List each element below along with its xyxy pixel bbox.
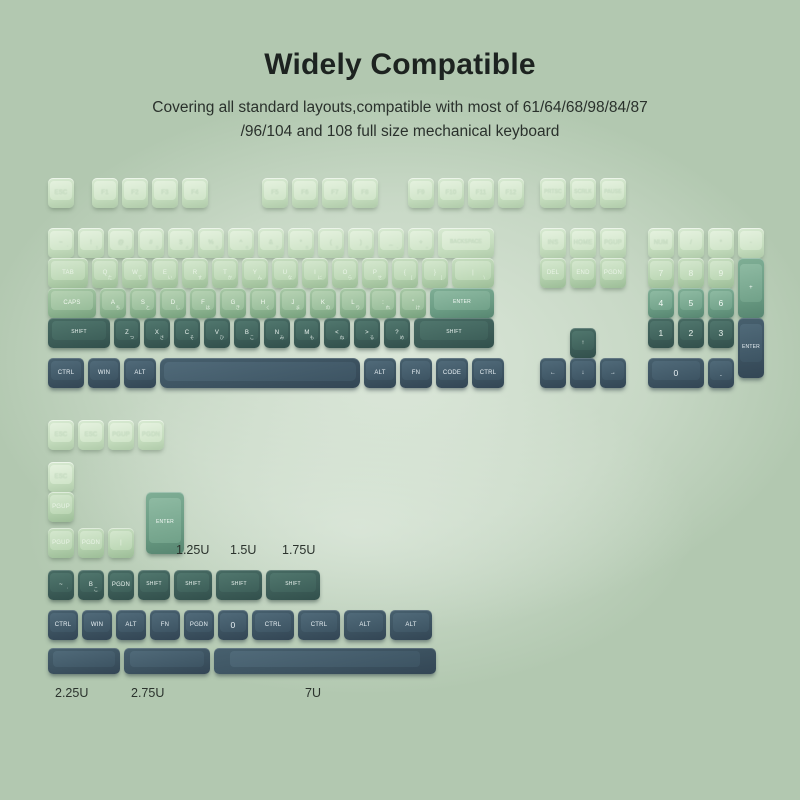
keycap-caps[interactable]: CAPS bbox=[48, 288, 96, 318]
keycap-pgup[interactable]: PGUP bbox=[48, 492, 74, 522]
keycap-top-surface bbox=[650, 261, 672, 280]
keycap-blank[interactable] bbox=[48, 648, 120, 674]
keycap-top-surface bbox=[206, 321, 228, 340]
keycap-top-surface bbox=[252, 291, 274, 310]
keycap-f8[interactable]: F8 bbox=[352, 178, 378, 208]
keycap-sym[interactable]: <ね bbox=[324, 318, 350, 348]
keycap-m[interactable]: Mも bbox=[294, 318, 320, 348]
keycap-f5[interactable]: F5 bbox=[262, 178, 288, 208]
keycap-top-surface bbox=[356, 321, 378, 340]
keycap-tab[interactable]: TAB bbox=[48, 258, 88, 288]
keycap-n[interactable]: Nみ bbox=[264, 318, 290, 348]
keycap-8[interactable]: 8 bbox=[678, 258, 704, 288]
keycap-top-surface bbox=[740, 264, 762, 302]
keycap-shift[interactable]: SHIFT bbox=[174, 570, 212, 600]
keycap-top-surface bbox=[304, 261, 326, 280]
keycap-ctrl[interactable]: CTRL bbox=[48, 610, 78, 640]
subtitle-line-2: /96/104 and 108 full size mechanical key… bbox=[0, 120, 800, 144]
keycap-top-surface bbox=[110, 423, 132, 442]
keycap-top-surface bbox=[186, 613, 212, 632]
keycap-top-surface bbox=[372, 291, 394, 310]
keycap-pgup[interactable]: PGUP bbox=[600, 228, 626, 258]
keycap-top-surface bbox=[50, 613, 76, 632]
keycap-top-surface bbox=[102, 291, 124, 310]
keycap-alt[interactable]: ALT bbox=[116, 610, 146, 640]
keycap-top-surface bbox=[394, 261, 416, 280]
keycap-num[interactable]: NUM bbox=[648, 228, 674, 258]
keycap-top-surface bbox=[140, 423, 162, 442]
keycap-top-surface bbox=[176, 321, 198, 340]
keycap-top-surface bbox=[50, 495, 72, 514]
keycap-pgdn[interactable]: PGDN bbox=[600, 258, 626, 288]
keycap-top-surface bbox=[424, 261, 446, 280]
keycap-top-surface bbox=[366, 361, 394, 380]
keycap-del[interactable]: DEL bbox=[540, 258, 566, 288]
keycap-top-surface bbox=[740, 324, 762, 362]
keycap-top-surface bbox=[184, 261, 206, 280]
keycap-top-surface bbox=[347, 613, 383, 632]
keycap-sym[interactable]: |\ bbox=[452, 258, 494, 288]
keycap-top-surface bbox=[132, 291, 154, 310]
keycap-top-surface bbox=[410, 231, 432, 250]
keycap-i[interactable]: Iに bbox=[302, 258, 328, 288]
keycap-top-surface bbox=[170, 231, 192, 250]
keycap-sym[interactable]: "け bbox=[400, 288, 426, 318]
keycap-top-surface bbox=[393, 613, 429, 632]
keycap-top-surface bbox=[326, 321, 348, 340]
keycap-sym[interactable]: #3 bbox=[138, 228, 164, 258]
keycap-4[interactable]: 4 bbox=[648, 288, 674, 318]
keycap-top-surface bbox=[230, 231, 252, 250]
keycap-0[interactable]: 0 bbox=[218, 610, 248, 640]
keycap-top-surface bbox=[110, 531, 132, 550]
keycap-end[interactable]: END bbox=[570, 258, 596, 288]
keycap-b[interactable]: Bこ bbox=[234, 318, 260, 348]
keycap-top-surface bbox=[270, 573, 316, 592]
keycap-f7[interactable]: F7 bbox=[322, 178, 348, 208]
keycap-win[interactable]: WIN bbox=[82, 610, 112, 640]
keycap-top-surface bbox=[274, 261, 296, 280]
keycap-1[interactable]: 1 bbox=[648, 318, 674, 348]
keycap-top-surface bbox=[680, 321, 702, 340]
keycap-sym[interactable]: ?め bbox=[384, 318, 410, 348]
keycap-top-surface bbox=[294, 181, 316, 200]
subtitle-line-1: Covering all standard layouts,compatible… bbox=[0, 96, 800, 120]
product-stage: Widely Compatible Covering all standard … bbox=[0, 0, 800, 800]
keycap-2[interactable]: 2 bbox=[678, 318, 704, 348]
keycap-sym[interactable]: - bbox=[738, 228, 764, 258]
keycap-top-surface bbox=[184, 181, 206, 200]
keycap-esc[interactable]: ESC bbox=[78, 420, 104, 450]
keycap-x[interactable]: Xさ bbox=[144, 318, 170, 348]
keycap-l[interactable]: Lり bbox=[340, 288, 366, 318]
keycap-top-surface bbox=[50, 423, 72, 442]
keycap-sym[interactable]: %5 bbox=[198, 228, 224, 258]
keycap-top-surface bbox=[236, 321, 258, 340]
keycap-top-surface bbox=[124, 261, 146, 280]
keycap-top-surface bbox=[434, 291, 489, 310]
keycap-sym[interactable]: >る bbox=[354, 318, 380, 348]
keycap-q[interactable]: Qた bbox=[92, 258, 118, 288]
keycap-top-surface bbox=[219, 573, 259, 592]
keycap-esc[interactable]: ESC bbox=[48, 462, 74, 492]
keycap-sym[interactable]: :れ bbox=[370, 288, 396, 318]
keycap-top-surface bbox=[710, 361, 732, 380]
keycap-top-surface bbox=[140, 231, 162, 250]
keycap-top-surface bbox=[402, 361, 430, 380]
keycap-t[interactable]: Tか bbox=[212, 258, 238, 288]
keycap-top-surface bbox=[222, 291, 244, 310]
keycap-top-surface bbox=[50, 531, 72, 550]
keycap-v[interactable]: Vひ bbox=[204, 318, 230, 348]
keycap-top-surface bbox=[710, 231, 732, 250]
size-label-1.25u: 1.25U bbox=[176, 543, 209, 557]
keycap-top-surface bbox=[110, 573, 132, 592]
keycap-top-surface bbox=[572, 231, 594, 250]
keycap-d[interactable]: Dし bbox=[160, 288, 186, 318]
keycap-alt[interactable]: ALT bbox=[390, 610, 432, 640]
keycap-sym[interactable]: _- bbox=[378, 228, 404, 258]
keycap-f2[interactable]: F2 bbox=[122, 178, 148, 208]
keycap-sym[interactable]: ~` bbox=[48, 228, 74, 258]
keycap-top-surface bbox=[94, 261, 116, 280]
keycap-top-surface bbox=[84, 613, 110, 632]
keycap-top-surface bbox=[602, 261, 624, 280]
keycap-top-surface bbox=[740, 231, 762, 250]
size-label-7u: 7U bbox=[305, 686, 321, 700]
keycap-shift[interactable]: SHIFT bbox=[266, 570, 320, 600]
keycap-top-surface bbox=[364, 261, 386, 280]
keycap-top-surface bbox=[542, 261, 564, 280]
keycap-top-surface bbox=[602, 181, 624, 200]
keycap-top-surface bbox=[500, 181, 522, 200]
keycap-top-surface bbox=[94, 181, 116, 200]
keycap-top-surface bbox=[164, 362, 356, 381]
keycap-top-surface bbox=[296, 321, 318, 340]
keycap-top-surface bbox=[440, 181, 462, 200]
keycap-top-surface bbox=[420, 321, 489, 340]
keycap-sym[interactable]: += bbox=[408, 228, 434, 258]
keycap-esc[interactable]: ESC bbox=[48, 178, 74, 208]
keycap-backspace[interactable]: BACKSPACE bbox=[438, 228, 494, 258]
keycap-top-surface bbox=[652, 361, 700, 380]
keycap-sym[interactable]: *8 bbox=[288, 228, 314, 258]
keycap-alt[interactable]: ALT bbox=[124, 358, 156, 388]
keycap-enter[interactable]: ENTER bbox=[430, 288, 494, 318]
keycap-top-surface bbox=[192, 291, 214, 310]
keycap-top-surface bbox=[214, 261, 236, 280]
keycap-top-surface bbox=[572, 261, 594, 280]
keycap-sym[interactable]: (9 bbox=[318, 228, 344, 258]
keycap-top-surface bbox=[177, 573, 210, 592]
keycap-y[interactable]: Yん bbox=[242, 258, 268, 288]
keycap-top-surface bbox=[146, 321, 168, 340]
keycap-pgdn[interactable]: PGDN bbox=[184, 610, 214, 640]
keycap-enter[interactable]: ENTER bbox=[738, 318, 764, 378]
keycap-5[interactable]: 5 bbox=[678, 288, 704, 318]
keycap-top-surface bbox=[342, 291, 364, 310]
keycap-sym[interactable]: !1 bbox=[78, 228, 104, 258]
keycap-blank[interactable] bbox=[124, 648, 210, 674]
keycap-top-surface bbox=[50, 231, 72, 250]
keycap-ctrl[interactable]: CTRL bbox=[252, 610, 294, 640]
keycap-top-surface bbox=[51, 261, 85, 280]
keycap-top-surface bbox=[255, 613, 291, 632]
keycap-sym[interactable]: . bbox=[708, 358, 734, 388]
keycap-top-surface bbox=[130, 651, 204, 668]
keycap-top-surface bbox=[455, 261, 491, 280]
keycap-sym[interactable]: ~` bbox=[48, 570, 74, 600]
keycap-sym[interactable]: ← bbox=[540, 358, 566, 388]
keycap-alt[interactable]: ALT bbox=[364, 358, 396, 388]
keycap-top-surface bbox=[650, 321, 672, 340]
keycap-pgdn[interactable]: PGDN bbox=[78, 528, 104, 558]
keycap-ctrl[interactable]: CTRL bbox=[48, 358, 84, 388]
heading-block: Widely Compatible Covering all standard … bbox=[0, 48, 800, 144]
keycap-3[interactable]: 3 bbox=[708, 318, 734, 348]
keycap-top-surface bbox=[602, 231, 624, 250]
keycap-top-surface bbox=[154, 181, 176, 200]
page-title: Widely Compatible bbox=[0, 48, 800, 82]
keycap-top-surface bbox=[442, 231, 490, 250]
keycap-top-surface bbox=[380, 231, 402, 250]
keycap-top-surface bbox=[710, 261, 732, 280]
keycap-sym[interactable]: → bbox=[600, 358, 626, 388]
keycap-top-surface bbox=[116, 321, 138, 340]
keycap-top-surface bbox=[572, 181, 594, 200]
keycap-prtsc[interactable]: PRTSC bbox=[540, 178, 566, 208]
keycap-b[interactable]: Bこ bbox=[78, 570, 104, 600]
keycap-o[interactable]: Oら bbox=[332, 258, 358, 288]
keycap-sym[interactable]: / bbox=[678, 228, 704, 258]
keycap-ctrl[interactable]: CTRL bbox=[472, 358, 504, 388]
keycap-top-surface bbox=[290, 231, 312, 250]
keycap-top-surface bbox=[438, 361, 466, 380]
keycap-blank[interactable] bbox=[160, 358, 360, 388]
keycap-top-surface bbox=[572, 361, 594, 380]
keycap-f4[interactable]: F4 bbox=[182, 178, 208, 208]
keycap-shift[interactable]: SHIFT bbox=[48, 318, 110, 348]
keycap-top-surface bbox=[52, 321, 105, 340]
keycap-blank[interactable] bbox=[214, 648, 436, 674]
keycap-scrlk[interactable]: SCRLK bbox=[570, 178, 596, 208]
keycap-top-surface bbox=[162, 291, 184, 310]
keycap-7[interactable]: 7 bbox=[648, 258, 674, 288]
keycap-pgdn[interactable]: PGDN bbox=[138, 420, 164, 450]
keycap-top-surface bbox=[470, 181, 492, 200]
keycap-k[interactable]: Kの bbox=[310, 288, 336, 318]
keycap-top-surface bbox=[386, 321, 408, 340]
keycap-u[interactable]: Uな bbox=[272, 258, 298, 288]
keycap-top-surface bbox=[680, 291, 702, 310]
keycap-top-surface bbox=[266, 321, 288, 340]
keycap-f9[interactable]: F9 bbox=[408, 178, 434, 208]
keycap-sym[interactable]: * bbox=[708, 228, 734, 258]
keycap-top-surface bbox=[282, 291, 304, 310]
keycap-f1[interactable]: F1 bbox=[92, 178, 118, 208]
keycap-sym[interactable]: @2 bbox=[108, 228, 134, 258]
keycap-sym[interactable]: $4 bbox=[168, 228, 194, 258]
keycap-c[interactable]: Cそ bbox=[174, 318, 200, 348]
keycap-top-surface bbox=[402, 291, 424, 310]
keycap-top-surface bbox=[154, 261, 176, 280]
keycap-top-surface bbox=[51, 361, 82, 380]
keycap-top-surface bbox=[200, 231, 222, 250]
keycap-sym[interactable]: )0 bbox=[348, 228, 374, 258]
keycap-r[interactable]: Rす bbox=[182, 258, 208, 288]
keycap-sym[interactable]: ↓ bbox=[570, 358, 596, 388]
keycap-top-surface bbox=[350, 231, 372, 250]
keycap-h[interactable]: Hく bbox=[250, 288, 276, 318]
keycap-f11[interactable]: F11 bbox=[468, 178, 494, 208]
size-label-1.75u: 1.75U bbox=[282, 543, 315, 557]
keycap-f[interactable]: Fは bbox=[190, 288, 216, 318]
keycap-fn[interactable]: FN bbox=[150, 610, 180, 640]
keycap-pause[interactable]: PAUSE bbox=[600, 178, 626, 208]
keycap-win[interactable]: WIN bbox=[88, 358, 120, 388]
keycap-top-surface bbox=[90, 361, 118, 380]
keycap-g[interactable]: Gき bbox=[220, 288, 246, 318]
keycap-top-surface bbox=[118, 613, 144, 632]
keycap-pgup[interactable]: PGUP bbox=[108, 420, 134, 450]
keycap-top-surface bbox=[474, 361, 502, 380]
keycap-top-surface bbox=[680, 231, 702, 250]
keycap-top-surface bbox=[50, 465, 72, 484]
keycap-sym[interactable]: {[ bbox=[392, 258, 418, 288]
keycap-ins[interactable]: INS bbox=[540, 228, 566, 258]
keycap-top-surface bbox=[710, 321, 732, 340]
keycap-top-surface bbox=[244, 261, 266, 280]
keycap-pgup[interactable]: PGUP bbox=[48, 528, 74, 558]
keycap-alt[interactable]: ALT bbox=[344, 610, 386, 640]
keycap-fn[interactable]: FN bbox=[400, 358, 432, 388]
keycap-top-surface bbox=[410, 181, 432, 200]
page-subtitle: Covering all standard layouts,compatible… bbox=[0, 96, 800, 144]
keycap-top-surface bbox=[334, 261, 356, 280]
keycap-top-surface bbox=[80, 573, 102, 592]
keycap-sym[interactable]: &7 bbox=[258, 228, 284, 258]
keycap-9[interactable]: 9 bbox=[708, 258, 734, 288]
keycap-w[interactable]: Wて bbox=[122, 258, 148, 288]
size-label-2.25u: 2.25U bbox=[55, 686, 88, 700]
keycap-a[interactable]: Aち bbox=[100, 288, 126, 318]
keycap-shift[interactable]: SHIFT bbox=[138, 570, 170, 600]
keycap-e[interactable]: Eい bbox=[152, 258, 178, 288]
keycap-p[interactable]: Pせ bbox=[362, 258, 388, 288]
keycap-shift[interactable]: SHIFT bbox=[216, 570, 262, 600]
keycap-top-surface bbox=[602, 361, 624, 380]
keycap-top-surface bbox=[220, 613, 246, 632]
keycap-top-surface bbox=[110, 231, 132, 250]
keycap-top-surface bbox=[53, 651, 115, 668]
keycap-j[interactable]: Jま bbox=[280, 288, 306, 318]
keycap-top-surface bbox=[320, 231, 342, 250]
keycap-f6[interactable]: F6 bbox=[292, 178, 318, 208]
keycap-ctrl[interactable]: CTRL bbox=[298, 610, 340, 640]
keycap-sym[interactable]: ↑ bbox=[570, 328, 596, 358]
keycap-sym[interactable]: | bbox=[108, 528, 134, 558]
keycap-top-surface bbox=[140, 573, 168, 592]
keycap-6[interactable]: 6 bbox=[708, 288, 734, 318]
size-label-1.5u: 1.5U bbox=[230, 543, 256, 557]
keycap-top-surface bbox=[354, 181, 376, 200]
size-label-2.75u: 2.75U bbox=[131, 686, 164, 700]
keycap-top-surface bbox=[80, 423, 102, 442]
keycap-top-surface bbox=[50, 181, 72, 200]
keycap-top-surface bbox=[542, 231, 564, 250]
keycap-top-surface bbox=[650, 231, 672, 250]
keycap-shift[interactable]: SHIFT bbox=[414, 318, 494, 348]
keycap-top-surface bbox=[260, 231, 282, 250]
keycap-top-surface bbox=[50, 573, 72, 592]
keycap-top-surface bbox=[650, 291, 672, 310]
keycap-sym[interactable]: + bbox=[738, 258, 764, 318]
keycap-top-surface bbox=[230, 651, 421, 668]
keycap-top-surface bbox=[80, 531, 102, 550]
keycap-top-surface bbox=[572, 331, 594, 350]
keycap-top-surface bbox=[542, 361, 564, 380]
keycap-top-surface bbox=[264, 181, 286, 200]
keycap-esc[interactable]: ESC bbox=[48, 420, 74, 450]
keycap-top-surface bbox=[152, 613, 178, 632]
keycap-top-surface bbox=[710, 291, 732, 310]
keycap-code[interactable]: CODE bbox=[436, 358, 468, 388]
keycap-top-surface bbox=[542, 181, 564, 200]
keycap-z[interactable]: Zつ bbox=[114, 318, 140, 348]
keycap-f3[interactable]: F3 bbox=[152, 178, 178, 208]
keycap-top-surface bbox=[149, 498, 182, 543]
keycap-top-surface bbox=[51, 291, 92, 310]
keycap-s[interactable]: Sと bbox=[130, 288, 156, 318]
keycap-sym[interactable]: }] bbox=[422, 258, 448, 288]
keycap-top-surface bbox=[312, 291, 334, 310]
keycap-home[interactable]: HOME bbox=[570, 228, 596, 258]
keycap-f12[interactable]: F12 bbox=[498, 178, 524, 208]
keycap-f10[interactable]: F10 bbox=[438, 178, 464, 208]
keycap-sym[interactable]: ^6 bbox=[228, 228, 254, 258]
keycap-top-surface bbox=[80, 231, 102, 250]
keycap-top-surface bbox=[680, 261, 702, 280]
keycap-top-surface bbox=[301, 613, 337, 632]
keycap-top-surface bbox=[126, 361, 154, 380]
keycap-top-surface bbox=[324, 181, 346, 200]
keycap-top-surface bbox=[124, 181, 146, 200]
keycap-pgdn[interactable]: PGDN bbox=[108, 570, 134, 600]
keycap-0[interactable]: 0 bbox=[648, 358, 704, 388]
